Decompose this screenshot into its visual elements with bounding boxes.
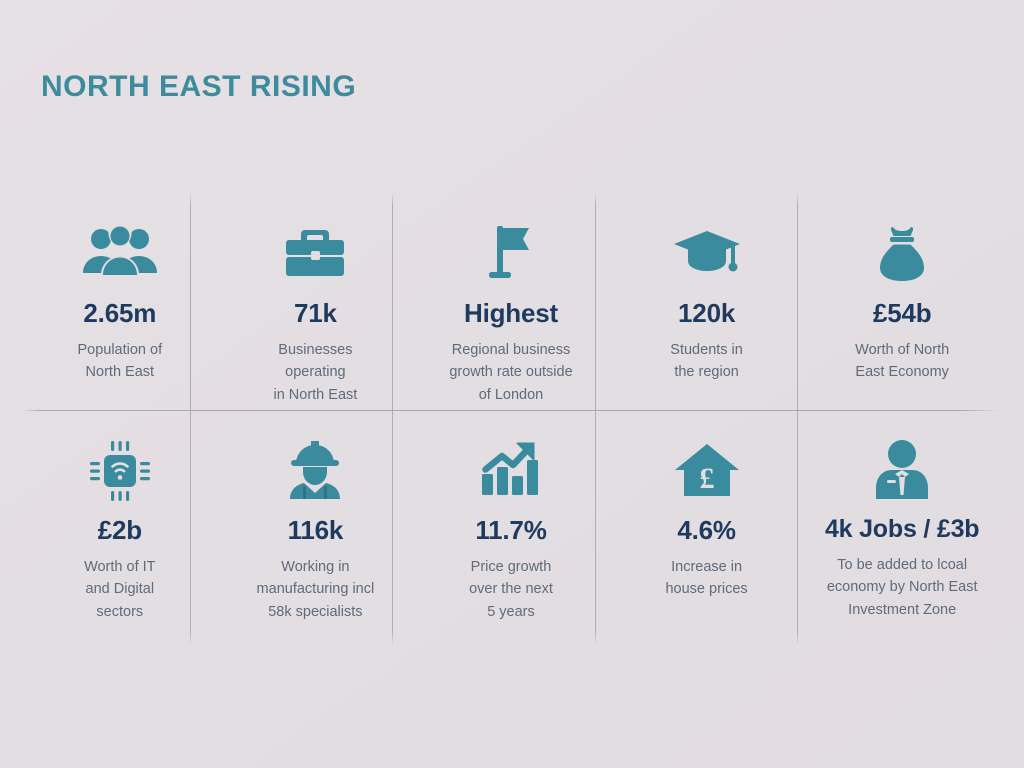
stat-cell-businesses: 71k Businesses operating in North East [218, 192, 414, 410]
stat-value: 4.6% [677, 515, 735, 546]
stat-description: Students in the region [670, 339, 743, 384]
desc-line: economy by North East [827, 576, 978, 598]
desc-line: Investment Zone [827, 599, 978, 621]
stat-description: Businesses operating in North East [273, 339, 357, 406]
desc-line: Worth of IT [84, 556, 155, 578]
stat-cell-economy-worth: £54b Worth of North East Economy [804, 192, 1000, 410]
desc-line: 5 years [469, 601, 553, 623]
people-group-icon [81, 214, 159, 292]
desc-line: Working in [257, 556, 375, 578]
stat-value: 4k Jobs / £3b [825, 515, 979, 544]
stat-description: To be added to lcoal economy by North Ea… [827, 554, 978, 621]
growth-chart-icon [476, 431, 546, 509]
stat-description: Regional business growth rate outside of… [449, 339, 572, 406]
desc-line: growth rate outside [449, 361, 572, 383]
stats-grid: 2.65m Population of North East [22, 192, 1000, 647]
desc-line: house prices [665, 578, 747, 600]
construction-worker-icon [280, 431, 350, 509]
stat-cell-price-growth: 11.7% Price growth over the next 5 years [413, 411, 609, 645]
stat-description: Worth of IT and Digital sectors [84, 556, 155, 623]
desc-line: North East [77, 361, 162, 383]
stat-cell-it-digital: £2b Worth of IT and Digital sectors [22, 411, 218, 645]
desc-line: Students in [670, 339, 743, 361]
flag-icon [479, 214, 543, 292]
microchip-wifi-icon [87, 431, 153, 509]
desc-line: sectors [84, 601, 155, 623]
money-bag-icon [871, 214, 933, 292]
desc-line: Businesses [273, 339, 357, 361]
desc-line: in North East [273, 384, 357, 406]
desc-line: To be added to lcoal [827, 554, 978, 576]
stat-cell-students: 120k Students in the region [609, 192, 805, 410]
desc-line: and Digital [84, 578, 155, 600]
desc-line: Increase in [665, 556, 747, 578]
stat-value: 2.65m [83, 298, 156, 329]
stat-value: Highest [464, 298, 558, 329]
desc-line: Price growth [469, 556, 553, 578]
stat-description: Price growth over the next 5 years [469, 556, 553, 623]
stat-cell-manufacturing: 116k Working in manufacturing incl 58k s… [218, 411, 414, 645]
stat-cell-population: 2.65m Population of North East [22, 192, 218, 410]
stat-value: 120k [678, 298, 735, 329]
desc-line: 58k specialists [257, 601, 375, 623]
stats-row-2: £2b Worth of IT and Digital sectors [22, 411, 1000, 645]
stat-value: £2b [98, 515, 142, 546]
page-title: NORTH EAST RISING [41, 70, 356, 104]
desc-line: Worth of North [855, 339, 949, 361]
stat-value: £54b [873, 298, 931, 329]
stat-description: Working in manufacturing incl 58k specia… [257, 556, 375, 623]
desc-line: operating [273, 361, 357, 383]
desc-line: Regional business [449, 339, 572, 361]
desc-line: the region [670, 361, 743, 383]
desc-line: of London [449, 384, 572, 406]
stat-cell-house-prices: £ 4.6% Increase in house prices [609, 411, 805, 645]
briefcase-icon [280, 214, 350, 292]
stats-row-1: 2.65m Population of North East [22, 192, 1000, 410]
desc-line: manufacturing incl [257, 578, 375, 600]
stat-cell-investment-zone: 4k Jobs / £3b To be added to lcoal econo… [804, 411, 1000, 645]
stat-value: 11.7% [475, 515, 546, 546]
infographic-page: NORTH EAST RISING [0, 0, 1024, 768]
svg-text:£: £ [699, 462, 714, 495]
desc-line: Population of [77, 339, 162, 361]
stat-description: Increase in house prices [665, 556, 747, 601]
desc-line: East Economy [855, 361, 949, 383]
stat-description: Population of North East [77, 339, 162, 384]
graduation-cap-icon [670, 214, 744, 292]
stat-cell-growth-rate: Highest Regional business growth rate ou… [413, 192, 609, 410]
desc-line: over the next [469, 578, 553, 600]
stat-value: 71k [294, 298, 337, 329]
stat-description: Worth of North East Economy [855, 339, 949, 384]
businessman-icon [871, 431, 933, 509]
house-pound-icon: £ [674, 431, 740, 509]
stat-value: 116k [288, 515, 344, 546]
